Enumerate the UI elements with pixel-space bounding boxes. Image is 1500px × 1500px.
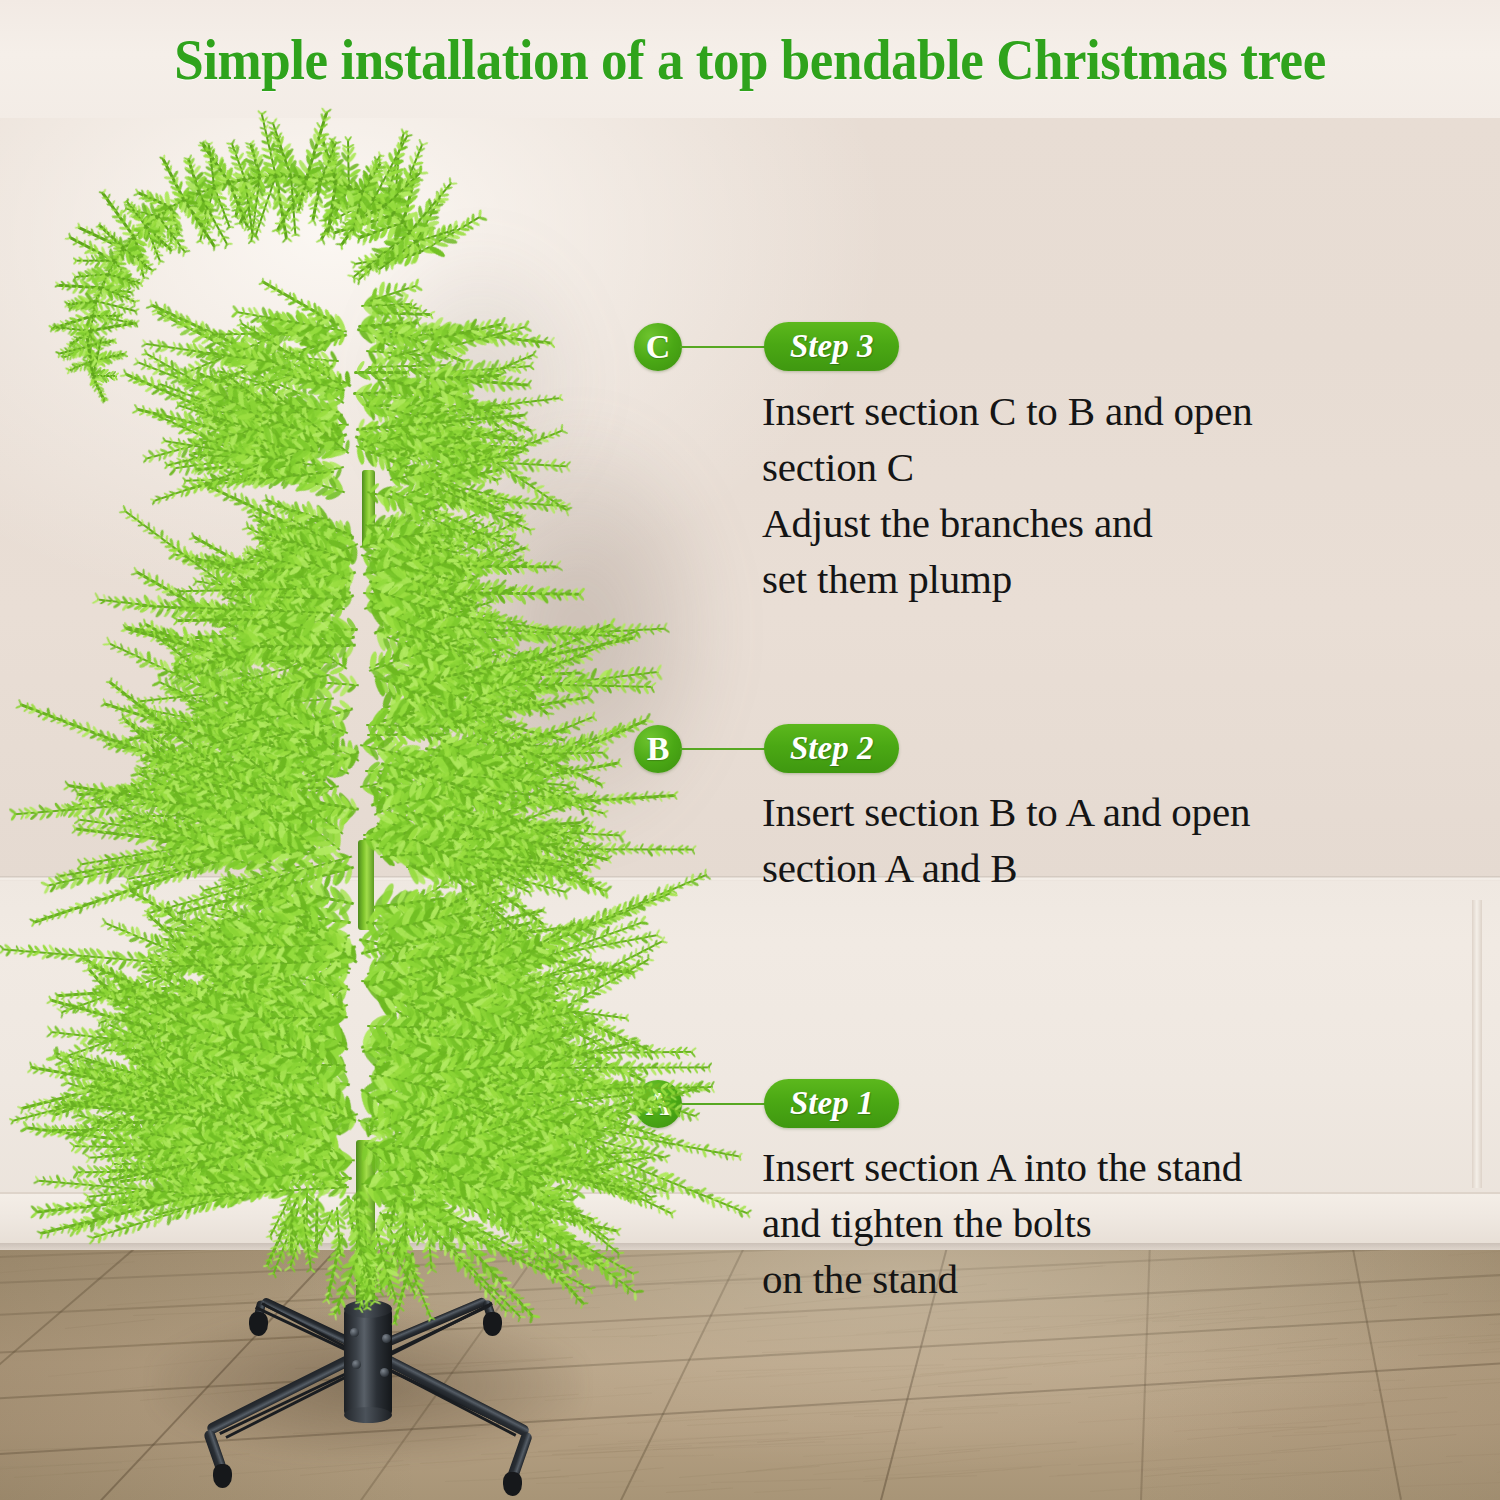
- leg-front-left-foot: [213, 1464, 232, 1488]
- step-body-2: Insert section B to A and open section A…: [762, 784, 1462, 896]
- step-label-3: Step 3: [790, 330, 873, 363]
- step-label-1: Step 1: [790, 1087, 873, 1120]
- tree-branch: [433, 359, 502, 395]
- tree-branch: [267, 1000, 333, 1035]
- section-badge-c[interactable]: C: [634, 323, 682, 371]
- step-pill-3[interactable]: Step 3: [764, 322, 899, 371]
- stand-bolt: [350, 1328, 359, 1337]
- step-label-2: Step 2: [790, 732, 873, 765]
- stand-center-hub: [344, 1308, 392, 1416]
- instruction-graphic: Simple installation of a top bendable Ch…: [0, 0, 1500, 1500]
- connector-line-c: [680, 346, 766, 348]
- step-pill-2[interactable]: Step 2: [764, 724, 899, 773]
- stand-bolt: [352, 1360, 361, 1369]
- tree-branch: [512, 1051, 710, 1084]
- stand-bolt: [382, 1334, 391, 1343]
- connector-line-b: [680, 748, 766, 750]
- step-body-1: Insert section A into the stand and tigh…: [762, 1139, 1462, 1307]
- stand-bolt: [380, 1368, 389, 1377]
- step-body-3: Insert section C to B and open section C…: [762, 383, 1462, 608]
- step-pill-1[interactable]: Step 1: [764, 1079, 899, 1128]
- leg-front-right-foot: [503, 1472, 522, 1496]
- wainscot-right-stile: [1472, 900, 1482, 1188]
- stand-hub-base: [344, 1407, 392, 1423]
- leg-back-left-foot: [249, 1312, 268, 1336]
- tree-branch: [354, 360, 409, 385]
